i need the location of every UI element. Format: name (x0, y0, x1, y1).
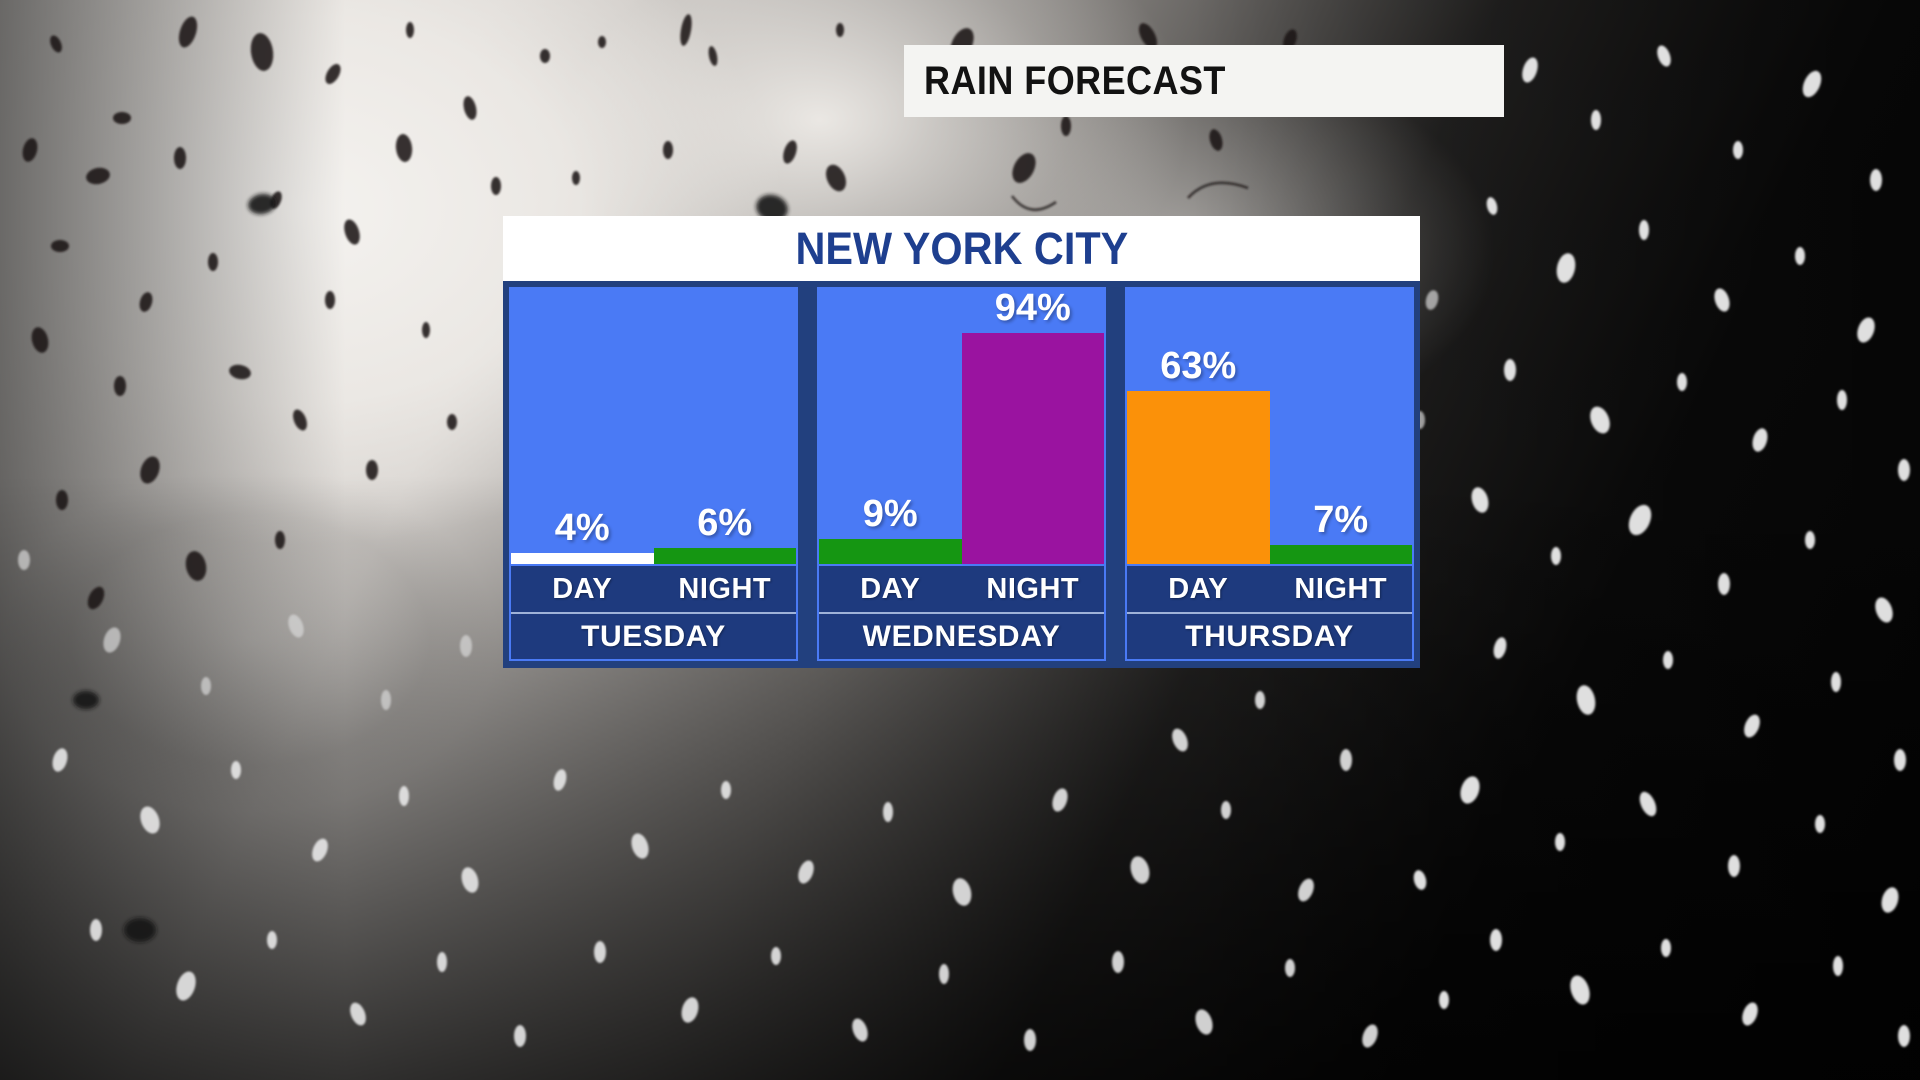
bar-fill-tuesday-day (511, 553, 654, 564)
bar-group-wednesday: 9% 94% (819, 289, 1104, 564)
period-label-wednesday-night: NIGHT (962, 573, 1105, 606)
period-label-row-tuesday: DAY NIGHT (511, 564, 796, 612)
bar-slot-thursday-night: 7% (1270, 289, 1413, 564)
bar-fill-thursday-day (1127, 391, 1270, 564)
bar-slot-tuesday-day: 4% (511, 289, 654, 564)
bar-group-tuesday: 4% 6% (511, 289, 796, 564)
bar-fill-wednesday-day (819, 539, 962, 564)
period-label-row-thursday: DAY NIGHT (1127, 564, 1412, 612)
bar-slot-wednesday-day: 9% (819, 289, 962, 564)
period-label-thursday-day: DAY (1127, 573, 1270, 606)
weekday-label-thursday: THURSDAY (1185, 620, 1354, 654)
bar-value-wednesday-day: 9% (819, 495, 962, 539)
bar-slot-wednesday-night: 94% (962, 289, 1105, 564)
chart-title-bar: NEW YORK CITY (503, 216, 1420, 281)
banner-title: RAIN FORECAST (924, 59, 1226, 104)
period-label-thursday-night: NIGHT (1270, 573, 1413, 606)
rain-forecast-banner: RAIN FORECAST (904, 45, 1504, 117)
period-label-tuesday-night: NIGHT (654, 573, 797, 606)
bar-slot-thursday-day: 63% (1127, 289, 1270, 564)
weekday-row-wednesday: WEDNESDAY (819, 612, 1104, 659)
bar-group-thursday: 63% 7% (1127, 289, 1412, 564)
bar-fill-thursday-night (1270, 545, 1413, 564)
day-panel-wednesday[interactable]: 9% 94% DAY NIGHT WEDNESDAY (817, 287, 1106, 661)
weekday-row-thursday: THURSDAY (1127, 612, 1412, 659)
weekday-label-wednesday: WEDNESDAY (863, 620, 1061, 654)
bar-value-thursday-night: 7% (1270, 501, 1413, 545)
bar-value-thursday-day: 63% (1127, 347, 1270, 391)
weekday-row-tuesday: TUESDAY (511, 612, 796, 659)
bar-slot-tuesday-night: 6% (654, 289, 797, 564)
weather-graphic-screen: RAIN FORECAST NEW YORK CITY 4% 6% (0, 0, 1920, 1080)
bar-fill-tuesday-night (654, 548, 797, 565)
weekday-label-tuesday: TUESDAY (581, 620, 726, 654)
period-label-wednesday-day: DAY (819, 573, 962, 606)
day-panel-thursday[interactable]: 63% 7% DAY NIGHT THURSDAY (1125, 287, 1414, 661)
bar-value-wednesday-night: 94% (962, 289, 1105, 333)
bar-value-tuesday-day: 4% (511, 509, 654, 553)
period-label-tuesday-day: DAY (511, 573, 654, 606)
day-panels-container: 4% 6% DAY NIGHT TUESDAY (503, 281, 1420, 668)
forecast-chart: NEW YORK CITY 4% 6% DAY NIGHT (503, 216, 1420, 668)
city-title: NEW YORK CITY (795, 223, 1128, 275)
period-label-row-wednesday: DAY NIGHT (819, 564, 1104, 612)
day-panel-tuesday[interactable]: 4% 6% DAY NIGHT TUESDAY (509, 287, 798, 661)
bar-fill-wednesday-night (962, 333, 1105, 564)
bar-value-tuesday-night: 6% (654, 504, 797, 548)
